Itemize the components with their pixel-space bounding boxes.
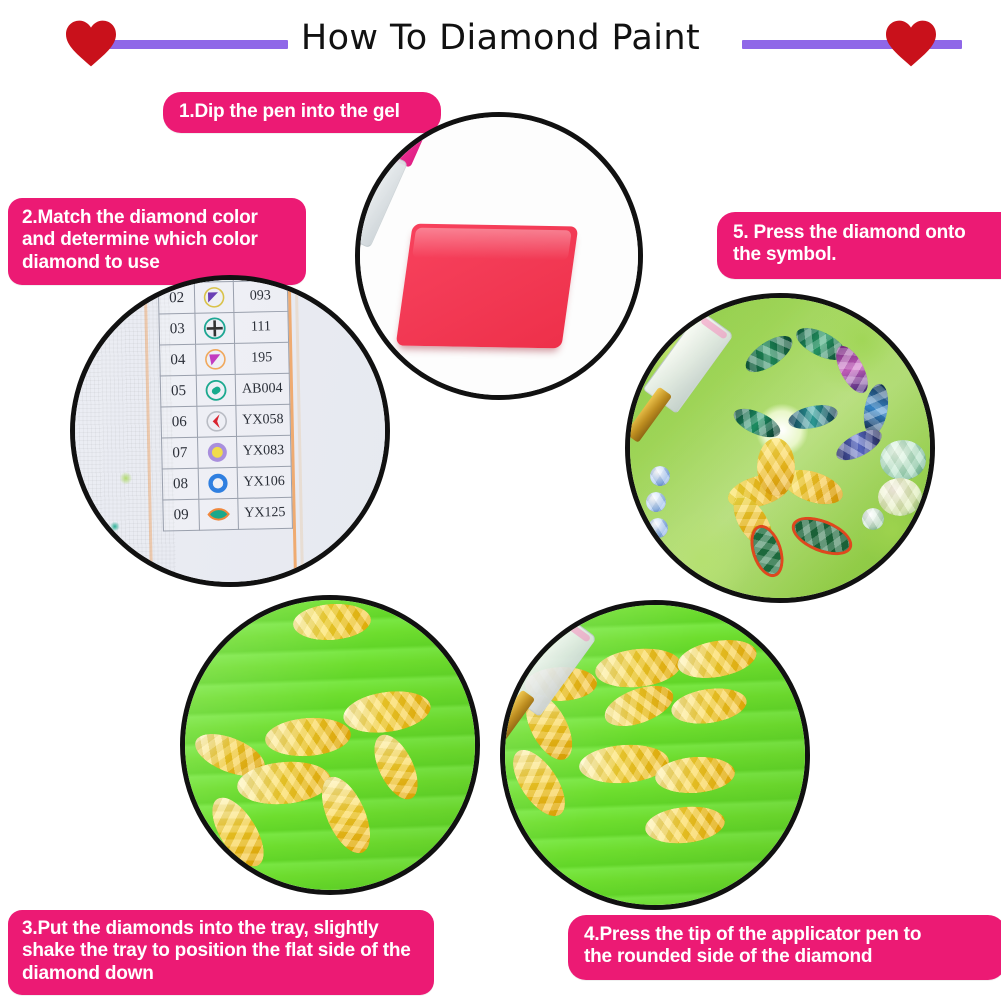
step-5-scene bbox=[630, 298, 930, 598]
chart-symbol-triangle-in-circle-icon bbox=[194, 281, 233, 313]
pen-gold-tip bbox=[625, 387, 672, 443]
step-2-label: 2.Match the diamond color and determine … bbox=[8, 198, 306, 285]
tray-diamond bbox=[669, 684, 749, 728]
step-5-label: 5. Press the diamond onto the symbol. bbox=[717, 212, 1001, 279]
step-5-label-line-1: 5. Press the diamond onto bbox=[733, 222, 1001, 244]
tray-diamond bbox=[365, 728, 426, 806]
gel-pad bbox=[396, 224, 579, 349]
diamond-painting-canvas bbox=[625, 293, 935, 603]
pen-pink-rim bbox=[700, 317, 728, 340]
canvas-dot bbox=[648, 518, 668, 538]
chart-code: YX058 bbox=[235, 404, 290, 436]
pen-pink-rim bbox=[563, 620, 591, 643]
chart-code: AB004 bbox=[235, 373, 290, 405]
pen-gold-tip bbox=[500, 690, 535, 746]
step-3-photo bbox=[180, 595, 480, 895]
chart-number: 08 bbox=[162, 468, 199, 500]
step-1-photo bbox=[355, 112, 643, 400]
chart-code: YX106 bbox=[237, 466, 292, 498]
step-5-photo bbox=[625, 293, 935, 603]
step-4-scene bbox=[505, 605, 805, 905]
canvas-gem bbox=[878, 478, 922, 516]
step-1-scene bbox=[360, 117, 638, 395]
canvas-gem bbox=[880, 440, 926, 480]
chart-symbol-leaf-shape-icon bbox=[199, 498, 238, 530]
canvas-leaf-symbol bbox=[786, 509, 857, 563]
table-row: 02 093 bbox=[158, 280, 288, 314]
step-2-label-line-2: and determine which color bbox=[22, 229, 294, 251]
active-yellow-gem bbox=[757, 438, 795, 496]
tray-diamond bbox=[674, 634, 759, 683]
step-5-label-line-2: the symbol. bbox=[733, 244, 1001, 266]
chart-number: 02 bbox=[158, 282, 195, 314]
chart-number: 06 bbox=[161, 406, 198, 438]
table-row: 09 YX125 bbox=[163, 497, 293, 531]
table-row: 05 AB004 bbox=[160, 373, 290, 407]
canvas-dot bbox=[650, 466, 670, 486]
green-diamond-tray bbox=[180, 595, 480, 895]
canvas-gem bbox=[730, 403, 785, 443]
canvas-gem bbox=[740, 329, 798, 379]
chart-number: 05 bbox=[160, 375, 197, 407]
step-2-photo: 020 02 093 03 111 04 bbox=[70, 275, 390, 587]
step-4-photo bbox=[500, 600, 810, 910]
tray-diamond bbox=[643, 803, 726, 847]
chart-code: YX083 bbox=[236, 435, 291, 467]
step-2-scene: 020 02 093 03 111 04 bbox=[75, 280, 385, 582]
table-row: 06 YX058 bbox=[161, 404, 291, 438]
canvas-dot bbox=[646, 492, 666, 512]
step-4-label-line-2: the rounded side of the diamond bbox=[584, 946, 994, 968]
pen-body bbox=[355, 145, 408, 249]
color-chart-table: 020 02 093 03 111 04 bbox=[157, 275, 293, 531]
chart-symbol-plus-in-circle-icon bbox=[195, 312, 234, 344]
chart-number: 09 bbox=[163, 499, 200, 531]
table-row: 08 YX106 bbox=[162, 466, 292, 500]
table-row: 07 YX083 bbox=[162, 435, 292, 469]
color-chart-sheet: 020 02 093 03 111 04 bbox=[70, 275, 390, 587]
chart-number: 07 bbox=[162, 437, 199, 469]
chart-symbol-bean-in-circle-icon bbox=[196, 374, 235, 406]
chart-code: 093 bbox=[233, 280, 288, 312]
step-3-label-line-1: 3.Put the diamonds into the tray, slight… bbox=[22, 918, 422, 940]
tray-diamond bbox=[264, 715, 352, 759]
tray-diamond bbox=[593, 645, 683, 692]
step-4-label-line-1: 4.Press the tip of the applicator pen to bbox=[584, 924, 994, 946]
step-3-label: 3.Put the diamonds into the tray, slight… bbox=[8, 910, 434, 995]
green-diamond-tray bbox=[500, 600, 810, 910]
page-header: How To Diamond Paint bbox=[0, 0, 1001, 88]
tray-diamond bbox=[341, 686, 434, 738]
tray-diamond bbox=[292, 601, 372, 642]
canvas-dot bbox=[862, 508, 884, 530]
chart-number: 03 bbox=[159, 313, 196, 345]
step-3-label-line-3: diamond down bbox=[22, 963, 422, 985]
applicator-pen bbox=[625, 309, 736, 457]
chart-symbol-dot-in-ring-icon bbox=[198, 436, 237, 468]
chart-code: YX125 bbox=[237, 497, 292, 529]
step-3-label-line-2: shake the tray to position the flat side… bbox=[22, 940, 422, 962]
chart-symbol-open-ring-icon bbox=[198, 467, 237, 499]
chart-number: 04 bbox=[160, 344, 197, 376]
step-4-label: 4.Press the tip of the applicator pen to… bbox=[568, 915, 1001, 980]
chart-code: 195 bbox=[234, 342, 289, 374]
page-title: How To Diamond Paint bbox=[0, 18, 1001, 58]
chart-code: 111 bbox=[233, 311, 288, 343]
chart-symbol-chevron-in-circle-icon bbox=[197, 405, 236, 437]
chart-symbol-triangle-in-circle-icon bbox=[196, 343, 235, 375]
canvas-gem bbox=[786, 401, 839, 433]
step-2-label-line-3: diamond to use bbox=[22, 252, 294, 274]
step-3-scene bbox=[185, 600, 475, 890]
step-2-label-line-1: 2.Match the diamond color bbox=[22, 207, 294, 229]
table-row: 04 195 bbox=[160, 342, 290, 376]
table-row: 03 111 bbox=[159, 311, 289, 345]
